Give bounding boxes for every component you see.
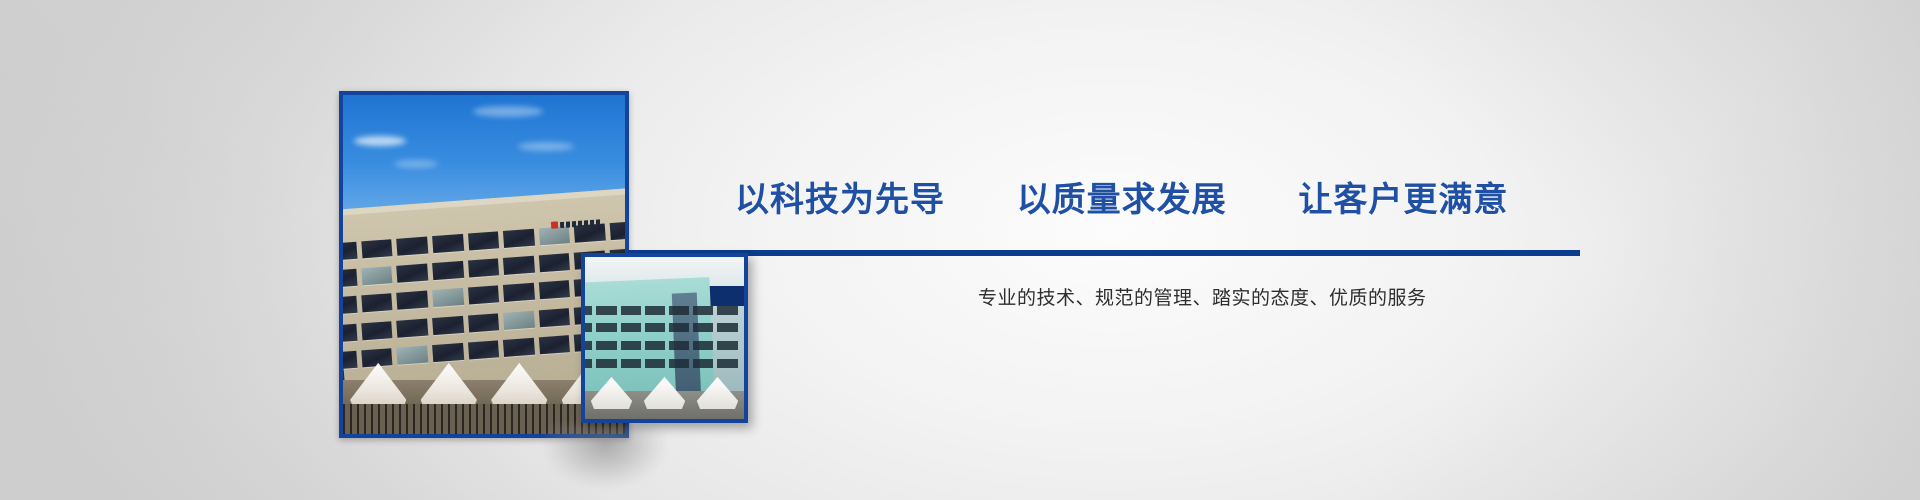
headline-part-3: 让客户更满意 [1298,172,1508,221]
canopy-tent-icon [591,377,632,409]
logo-dot-icon [551,222,558,229]
window-row [585,359,738,368]
headline-part-2: 以质量求发展 [1017,172,1227,221]
cloud-icon [354,136,406,146]
window-row [585,306,738,315]
canopy-tent-icon [697,377,738,409]
photo-secondary-content [585,257,744,419]
canopy-tent-row [585,377,744,409]
cloud-icon [473,106,543,117]
hero-banner: 以科技为先导 以质量求发展 让客户更满意 专业的技术、规范的管理、踏实的态度、优… [0,0,1920,500]
banner-subtitle: 专业的技术、规范的管理、踏实的态度、优质的服务 [978,283,1427,310]
cloud-icon [518,142,574,151]
canopy-tent-icon [644,377,685,409]
banner-headline: 以科技为先导 以质量求发展 让客户更满意 [735,172,1508,221]
headline-part-1: 以科技为先导 [735,172,945,221]
headline-divider-rule [628,250,1580,256]
window-row [585,323,738,332]
photo-reflection-shadow [545,425,665,487]
office-building-photo-secondary [581,253,748,423]
window-row [585,341,738,350]
cloud-icon [394,160,438,168]
